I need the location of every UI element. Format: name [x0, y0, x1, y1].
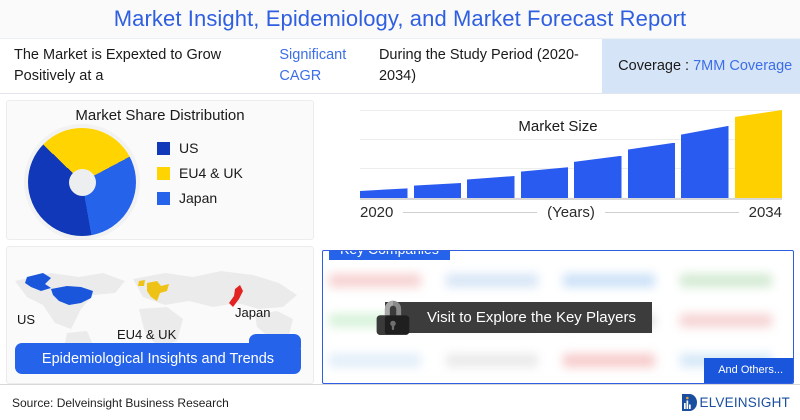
- legend-swatch-eu4-uk: [157, 167, 170, 180]
- dashboard-body: Market Share Distribution US EU4 & UK: [0, 96, 800, 384]
- legend-label-us: US: [179, 140, 198, 156]
- delveinsight-mark-icon: [681, 393, 699, 412]
- legend-swatch-us: [157, 142, 170, 155]
- market-share-title: Market Share Distribution: [7, 107, 313, 124]
- market-size-baseline: [360, 198, 782, 200]
- brand-name-text: ELVEINSIGHT: [700, 395, 790, 410]
- market-size-bar: [467, 176, 515, 198]
- left-column: Market Share Distribution US EU4 & UK: [6, 100, 314, 384]
- company-logo-placeholder: [329, 274, 421, 287]
- and-others-badge[interactable]: And Others...: [704, 358, 793, 383]
- market-size-bar: [574, 156, 622, 198]
- company-logo-placeholder: [563, 274, 655, 287]
- market-size-bar: [521, 167, 569, 198]
- company-logo-placeholder: [680, 274, 772, 287]
- coverage-value: 7MM Coverage: [693, 58, 792, 74]
- delveinsight-wordmark: ELVEINSIGHT: [700, 395, 790, 410]
- key-companies-card: Key Companies Visit to Explore the Key P…: [322, 250, 794, 384]
- market-size-plot: [360, 110, 782, 198]
- right-column: Market Size 2020 (Years) 2034 Key Compan…: [322, 100, 794, 384]
- axis-label-years: (Years): [547, 204, 595, 221]
- legend-label-eu4-uk: EU4 & UK: [179, 165, 243, 181]
- subheader-bar: The Market is Expexted to Grow Positivel…: [0, 38, 800, 94]
- company-logo-placeholder: [680, 314, 772, 327]
- delveinsight-logo: ELVEINSIGHT: [681, 393, 790, 412]
- company-logo-placeholder: [446, 354, 538, 367]
- axis-start-year: 2020: [360, 204, 393, 221]
- key-players-message: Visit to Explore the Key Players: [385, 302, 652, 333]
- market-size-bar: [735, 110, 783, 198]
- market-share-card: Market Share Distribution US EU4 & UK: [6, 100, 314, 240]
- epidemiology-map-card: US EU4 & UK Japan Epidemiological Insigh…: [6, 246, 314, 384]
- legend-item-japan: Japan: [157, 190, 243, 206]
- donut-chart-container: [7, 128, 157, 236]
- subheader-text-end: During the Study Period (2020-2034): [379, 45, 588, 87]
- legend-label-japan: Japan: [179, 190, 217, 206]
- market-size-axis: 2020 (Years) 2034: [360, 204, 782, 221]
- subheader-statement: The Market is Expexted to Grow Positivel…: [0, 39, 602, 93]
- coverage-panel: Coverage : 7MM Coverage: [602, 39, 800, 93]
- map-label-japan: Japan: [235, 305, 270, 320]
- market-size-bar: [628, 143, 676, 198]
- axis-rule-left: [403, 212, 537, 213]
- company-logo-placeholder: [563, 354, 655, 367]
- market-size-bar: [360, 188, 408, 198]
- footer-source: Source: Delveinsight Business Research: [12, 396, 229, 410]
- key-players-overlay[interactable]: Visit to Explore the Key Players: [367, 291, 652, 343]
- coverage-label: Coverage :: [618, 58, 689, 74]
- axis-rule-right: [605, 212, 739, 213]
- market-share-legend: US EU4 & UK Japan: [157, 128, 243, 206]
- market-size-bars: [360, 110, 782, 198]
- market-size-card: Market Size 2020 (Years) 2034: [322, 100, 794, 240]
- map-label-eu4-uk: EU4 & UK: [117, 327, 176, 342]
- axis-end-year: 2034: [749, 204, 782, 221]
- market-size-bar: [414, 183, 462, 198]
- page-title: Market Insight, Epidemiology, and Market…: [0, 0, 800, 38]
- footer: Source: Delveinsight Business Research E…: [0, 384, 800, 420]
- donut-chart: [28, 128, 136, 236]
- key-companies-tab: Key Companies: [329, 250, 450, 260]
- market-size-bar: [681, 126, 729, 198]
- subheader-text-start: The Market is Expexted to Grow Positivel…: [14, 45, 279, 87]
- legend-swatch-japan: [157, 192, 170, 205]
- company-logo-placeholder: [329, 354, 421, 367]
- padlock-icon: [367, 291, 419, 343]
- legend-item-us: US: [157, 140, 243, 156]
- map-label-us: US: [17, 312, 35, 327]
- company-logo-placeholder: [446, 274, 538, 287]
- legend-item-eu4-uk: EU4 & UK: [157, 165, 243, 181]
- epidemiological-insights-banner[interactable]: Epidemiological Insights and Trends: [15, 343, 301, 374]
- subheader-highlight: Significant CAGR: [279, 45, 379, 87]
